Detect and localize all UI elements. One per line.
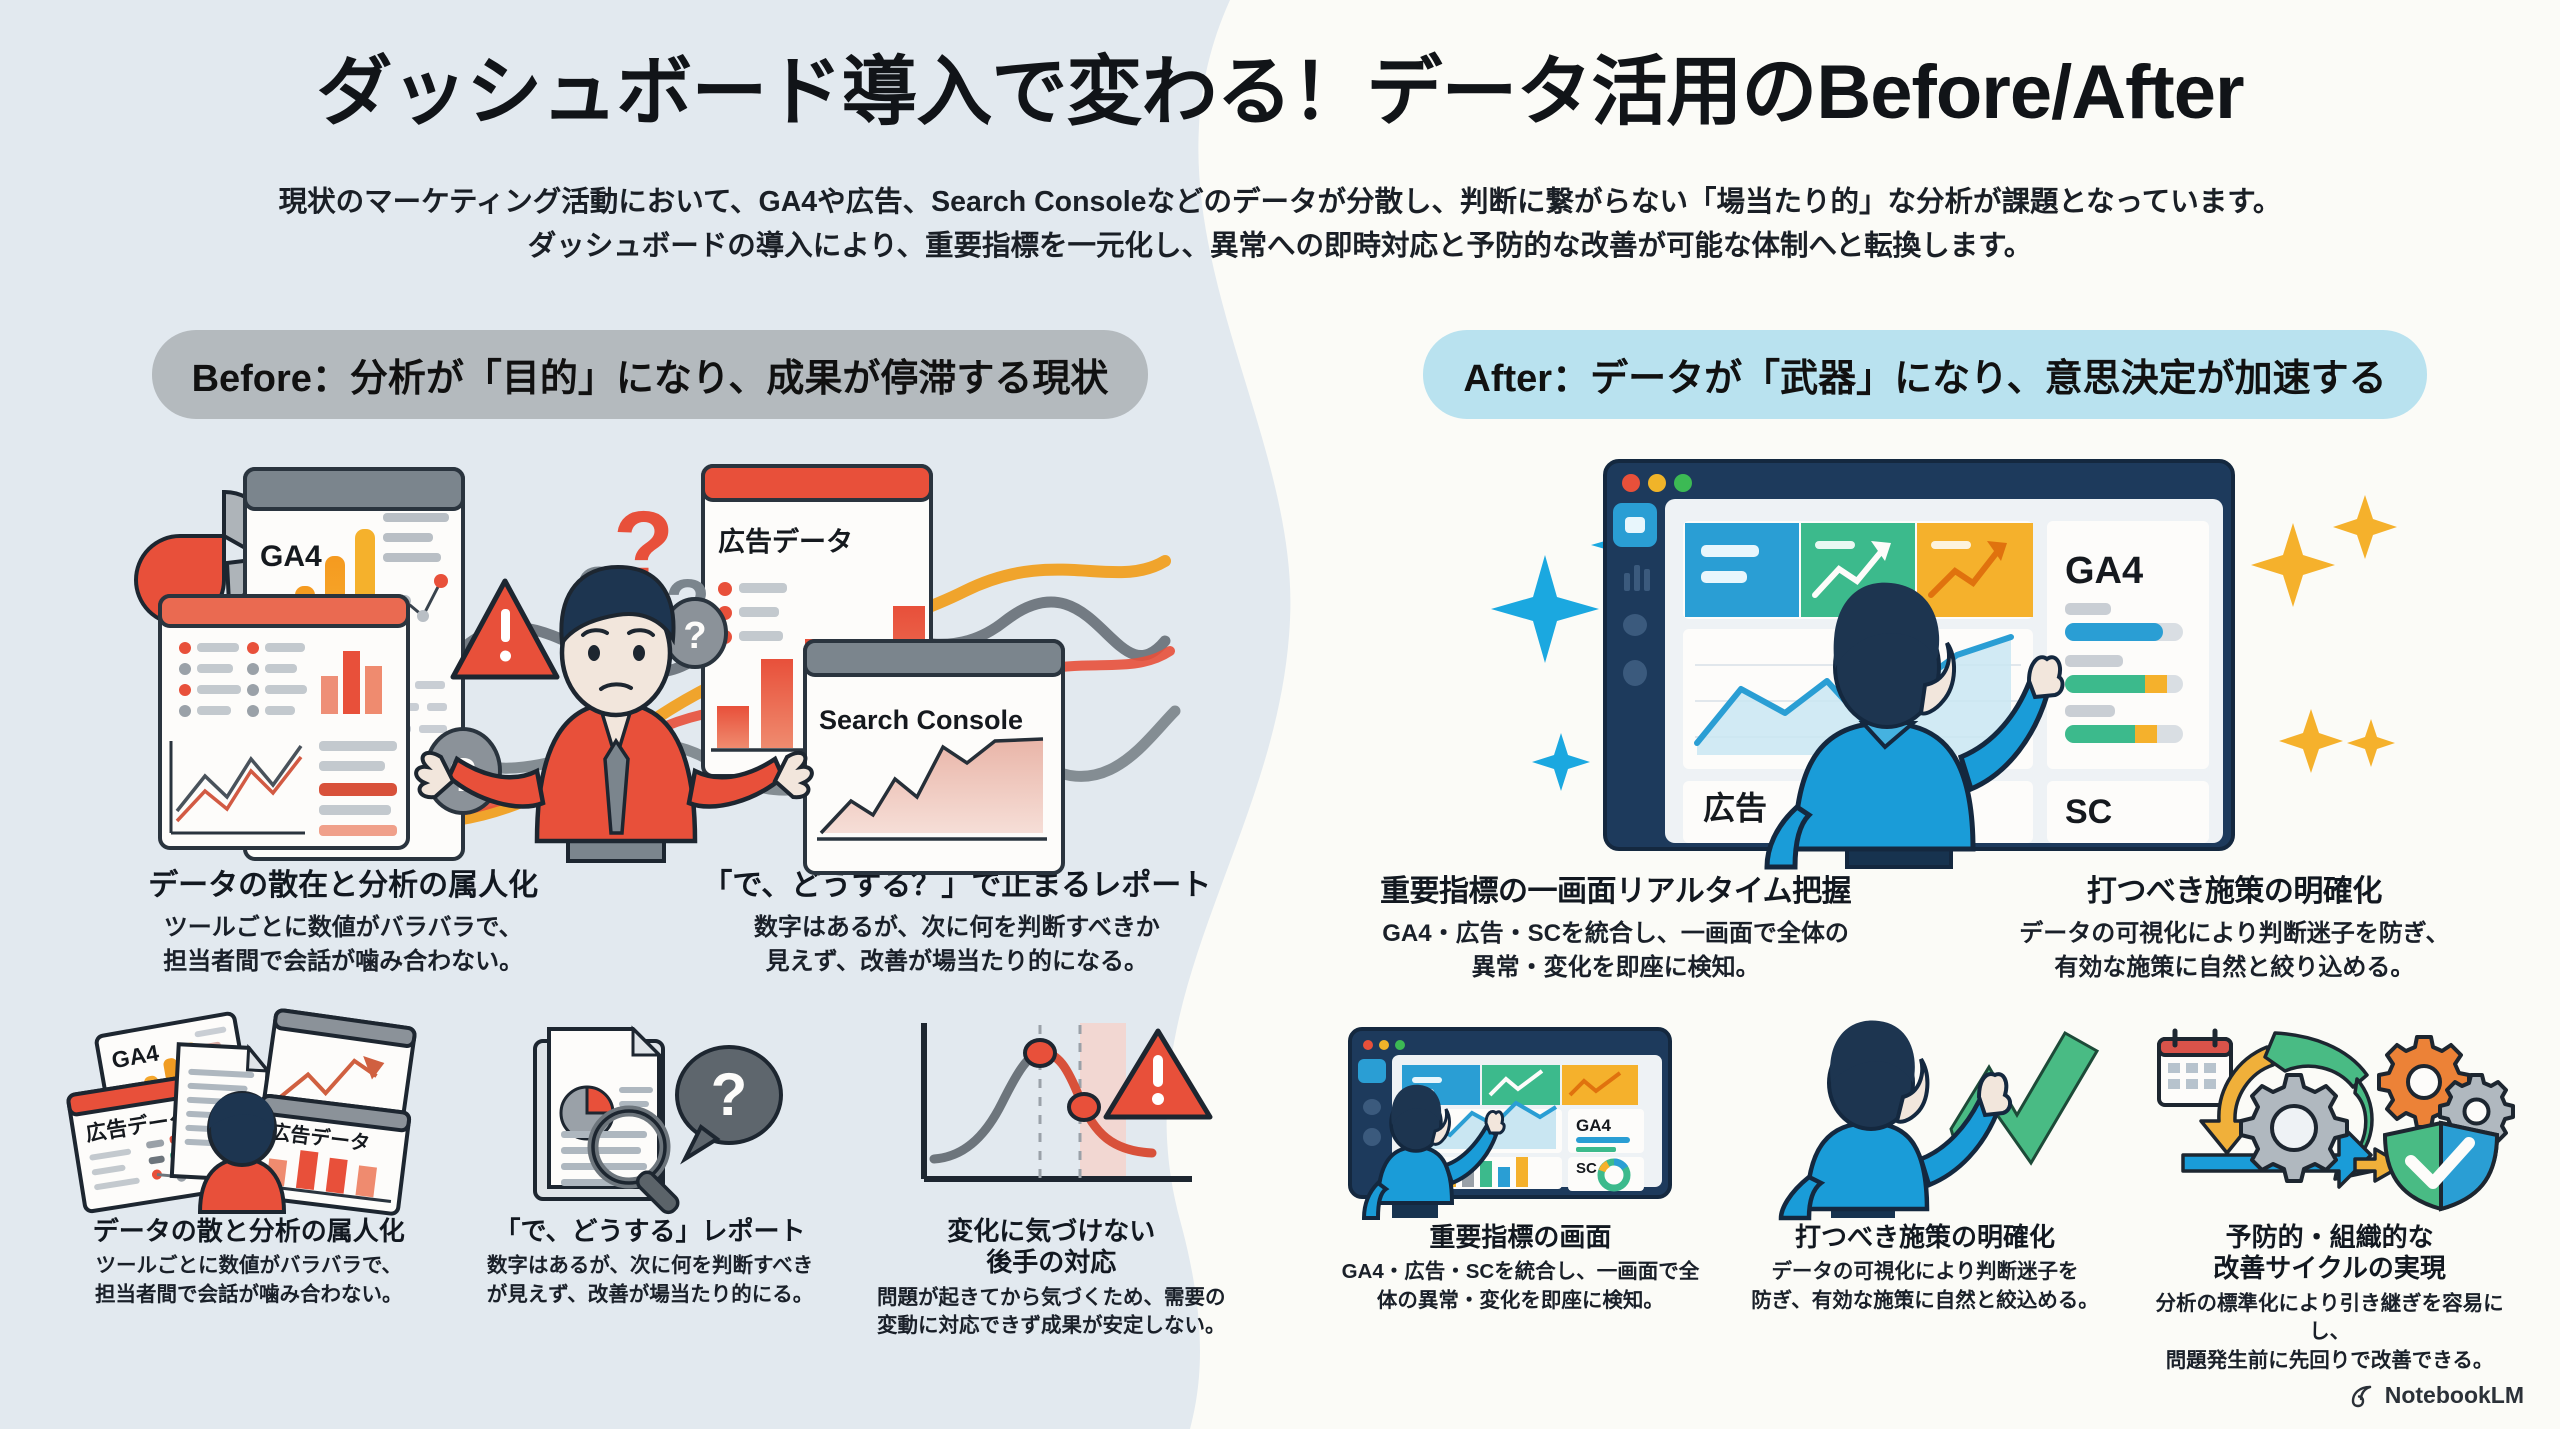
before-card-0-heading-line-1: データの散と分析の属人化 [60,1216,438,1248]
page-subtitle: 現状のマーケティング活動において、GA4や広告、Search Consoleなど… [115,180,2445,268]
page-subtitle-line-2: ダッシュボードの導入により、重要指標を一元化し、異常への即時対応と予防的な改善が… [115,224,2445,268]
before-card-2-heading: 変化に気づけない 後手の対応 [862,1216,1240,1279]
gear-icon [2241,1075,2347,1181]
kpi-tile-blue [1685,523,1799,617]
kpi-tile-orange [1917,523,2033,617]
after-point-0-body-line-1: GA4・広告・SCを統合し、一画面で全体の [1330,917,1901,951]
before-card-1-body: 数字はあるが、次に何を判断すべき が見えず、改善が場当たり的にる。 [461,1252,839,1309]
after-points: 重要指標の一画面リアルタイム把握 GA4・広告・SCを統合し、一画面で全体の 異… [1330,873,2520,985]
after-card-2-body: 分析の標準化により引き継ぎを容易にし、 問題発生前に先回りで改善できる。 [2139,1290,2520,1375]
sparkle-icon [1491,555,1599,663]
before-point-0-body-line-2: 担当者間で会話が噛み合わない。 [60,945,626,979]
after-point-1-body-line-2: 有効な施策に自然と絞り込める。 [1949,951,2520,985]
question-bubble-label: ? [711,1061,748,1128]
calendar-icon [2159,1031,2231,1105]
after-column: After：データが「武器」になり、意思決定が加速する [1330,330,2520,1375]
after-ga4-label: GA4 [2065,550,2143,592]
after-card-1: 打つべき施策の明確化 データの可視化により判断迷子を 防ぎ、有効な施策に自然と絞… [1735,1013,2116,1375]
before-card-1-heading: 「で、どうする」レポート [461,1216,839,1248]
after-point-1-body: データの可視化により判断迷子を防ぎ、 有効な施策に自然と絞り込める。 [1949,917,2520,985]
notebooklm-watermark: NotebookLM [2350,1382,2524,1409]
before-section-header: Before：分析が「目的」になり、成果が停滞する現状 [152,330,1149,419]
after-card-2-heading: 予防的・組織的な 改善サイクルの実現 [2139,1222,2520,1285]
after-card-0: GA4 SC [1330,1013,1711,1375]
report-card [160,596,408,848]
after-point-1-heading: 打つべき施策の明確化 [1949,873,2520,911]
notebooklm-logo-icon [2350,1383,2376,1409]
before-card-0-body: ツールごとに数値がバラバラで、 担当者間で会話が噛み合わない。 [60,1252,438,1309]
sparkle-icon [2347,719,2395,767]
after-card-2-heading-line-2: 改善サイクルの実現 [2139,1253,2520,1285]
person-pointing-illustration [1781,1020,2010,1217]
before-point-0-heading: データの散在と分析の属人化 [60,867,626,905]
sparkle-icon [1532,733,1590,791]
after-card-1-heading-line-1: 打つべき施策の明確化 [1735,1222,2116,1254]
before-point-1: 「で、どうする？」で止まるレポート 数字はあるが、次に何を判断すべきか 見えず、… [674,867,1240,979]
svg-text:?: ? [683,615,706,657]
before-point-1-body-line-2: 見えず、改善が場当たり的になる。 [674,945,1240,979]
before-card-2-illustration [862,1007,1240,1212]
shield-check-icon [2385,1123,2497,1209]
before-card-2-heading-line-2: 後手の対応 [862,1247,1240,1279]
after-card-0-sc-label: SC [1576,1160,1597,1177]
before-hero-illustration: GA4 [105,441,1195,861]
question-bubble-icon: ? [677,1047,781,1159]
before-card-2: 変化に気づけない 後手の対応 問題が起きてから気づくため、需要の 変動に対応でき… [862,1007,1240,1341]
after-card-0-body: GA4・広告・SCを統合し、一画面で全 体の異常・変化を即座に検知。 [1330,1258,1711,1315]
ads-card-label: 広告データ [718,526,853,557]
after-point-1: 打つべき施策の明確化 データの可視化により判断迷子を防ぎ、 有効な施策に自然と絞… [1949,873,2520,985]
after-point-0-body: GA4・広告・SCを統合し、一画面で全体の 異常・変化を即座に検知。 [1330,917,1901,985]
ga4-card-label: GA4 [260,540,322,573]
before-card-1: ? 「で、どうする」レポート 数字はあるが、次に何を判断すべき が見えず、改善が… [461,1007,839,1341]
before-point-0: データの散在と分析の属人化 ツールごとに数値がバラバラで、 担当者間で会話が噛み… [60,867,626,979]
before-cards: GA4 広告データ [60,1007,1240,1341]
after-section-header: After：データが「武器」になり、意思決定が加速する [1423,330,2426,419]
after-card-2-body-line-2: 問題発生前に先回りで改善できる。 [2139,1347,2520,1375]
before-point-0-body: ツールごとに数値がバラバラで、 担当者間で会話が噛み合わない。 [60,911,626,979]
after-card-0-body-line-2: 体の異常・変化を即座に検知。 [1330,1287,1711,1315]
before-card-0-heading: データの散と分析の属人化 [60,1216,438,1248]
sparkle-icon [2279,709,2343,773]
page-title: ダッシュボード導入で変わる！データ活用のBefore/After [0,30,2560,140]
search-console-card-label: Search Console [819,705,1023,735]
after-point-0-body-line-2: 異常・変化を即座に検知。 [1330,951,1901,985]
after-card-0-heading: 重要指標の画面 [1330,1222,1711,1254]
sparkle-icon [2333,495,2397,559]
before-column: Before：分析が「目的」になり、成果が停滞する現状 [60,330,1240,1341]
after-card-0-ga4-label: GA4 [1576,1116,1612,1135]
before-card-0-body-line-1: ツールごとに数値がバラバラで、 [60,1252,438,1280]
after-sc-label: SC [2065,793,2112,831]
after-cards: GA4 SC [1330,1013,2520,1375]
before-card-1-illustration: ? [461,1007,839,1212]
before-card-1-body-line-2: が見えず、改善が場当たり的にる。 [461,1281,839,1309]
before-card-0: GA4 広告データ [60,1007,438,1341]
after-point-0-heading: 重要指標の一画面リアルタイム把握 [1330,873,1901,911]
after-ads-label: 広告 [1703,790,1767,826]
before-card-0-illustration: GA4 広告データ [60,1007,438,1212]
after-card-0-heading-line-1: 重要指標の画面 [1330,1222,1711,1254]
after-card-2-body-line-1: 分析の標準化により引き継ぎを容易にし、 [2139,1290,2520,1347]
after-point-1-body-line-1: データの可視化により判断迷子を防ぎ、 [1949,917,2520,951]
notebooklm-watermark-label: NotebookLM [2385,1382,2524,1409]
before-card-1-body-line-1: 数字はあるが、次に何を判断すべき [461,1252,839,1280]
before-point-0-body-line-1: ツールごとに数値がバラバラで、 [60,911,626,945]
after-point-0: 重要指標の一画面リアルタイム把握 GA4・広告・SCを統合し、一画面で全体の 異… [1330,873,1901,985]
before-card-0-body-line-2: 担当者間で会話が噛み合わない。 [60,1281,438,1309]
after-card-0-body-line-1: GA4・広告・SCを統合し、一画面で全 [1330,1258,1711,1286]
before-card-1-heading-line-1: 「で、どうする」レポート [461,1216,839,1248]
after-hero-illustration: GA4 広告 SC [1365,437,2485,867]
after-card-1-body-line-2: 防ぎ、有効な施策に自然と絞込める。 [1735,1287,2116,1315]
sidebar-item-messages [1623,614,1647,636]
before-card-2-body: 問題が起きてから気づくため、需要の 変動に対応できず成果が安定しない。 [862,1284,1240,1341]
after-card-1-body-line-1: データの可視化により判断迷子を [1735,1258,2116,1286]
before-card-2-body-line-1: 問題が起きてから気づくため、需要の [862,1284,1240,1312]
before-points: データの散在と分析の属人化 ツールごとに数値がバラバラで、 担当者間で会話が噛み… [60,867,1240,979]
after-card-1-heading: 打つべき施策の明確化 [1735,1222,2116,1254]
after-card-2-illustration [2139,1013,2520,1218]
after-card-2-heading-line-1: 予防的・組織的な [2139,1222,2520,1254]
sidebar-item-profile [1623,660,1647,686]
before-card-2-body-line-2: 変動に対応できず成果が安定しない。 [862,1312,1240,1340]
before-point-1-body-line-1: 数字はあるが、次に何を判断すべきか [674,911,1240,945]
page-subtitle-line-1: 現状のマーケティング活動において、GA4や広告、Search Consoleなど… [115,180,2445,224]
after-card-1-body: データの可視化により判断迷子を 防ぎ、有効な施策に自然と絞込める。 [1735,1258,2116,1315]
before-point-1-body: 数字はあるが、次に何を判断すべきか 見えず、改善が場当たり的になる。 [674,911,1240,979]
after-card-0-illustration: GA4 SC [1330,1013,1711,1218]
search-console-card: Search Console [805,641,1063,873]
after-card-1-illustration [1735,1013,2116,1218]
before-card-2-heading-line-1: 変化に気づけない [862,1216,1240,1248]
sparkle-icon [2251,523,2335,607]
after-card-2: 予防的・組織的な 改善サイクルの実現 分析の標準化により引き継ぎを容易にし、 問… [2139,1013,2520,1375]
